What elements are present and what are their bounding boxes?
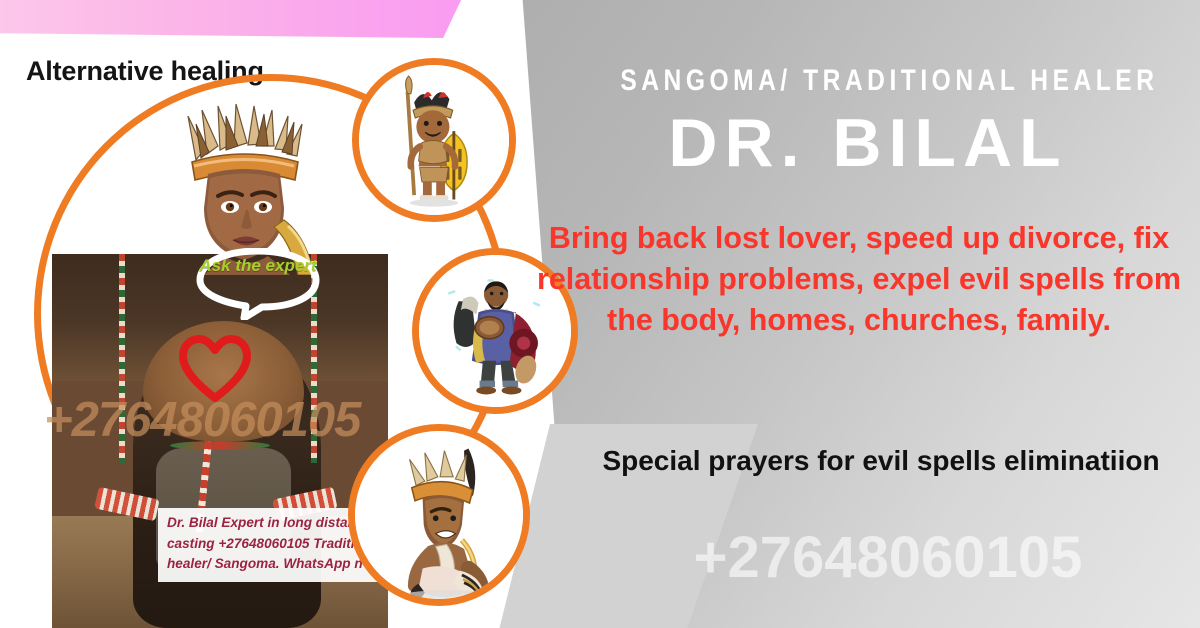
photo-beaded-collar bbox=[170, 441, 271, 450]
phone-number-watermark: +27648060105 bbox=[578, 524, 1198, 591]
services-description: Bring back lost lover, speed up divorce,… bbox=[536, 218, 1182, 341]
circle-badge-zulu-warrior bbox=[352, 58, 516, 222]
circle-badge-crouching-warrior bbox=[348, 424, 530, 606]
special-prayers-text: Special prayers for evil spells eliminat… bbox=[578, 442, 1184, 480]
poster-canvas: Alternative healing bbox=[0, 0, 1200, 628]
page-title-dr-bilal: DR. BILAL bbox=[566, 104, 1170, 182]
speech-bubble-text: Ask the expert bbox=[196, 256, 320, 277]
speech-bubble: Ask the expert bbox=[196, 248, 320, 320]
photo-bead-strand-left bbox=[119, 254, 125, 463]
heart-outline-icon bbox=[178, 334, 252, 404]
left-artwork-column: Alternative healing bbox=[0, 0, 540, 628]
kicker-sangoma-traditional-healer: SANGOMA/ TRADITIONAL HEALER bbox=[620, 64, 1115, 98]
